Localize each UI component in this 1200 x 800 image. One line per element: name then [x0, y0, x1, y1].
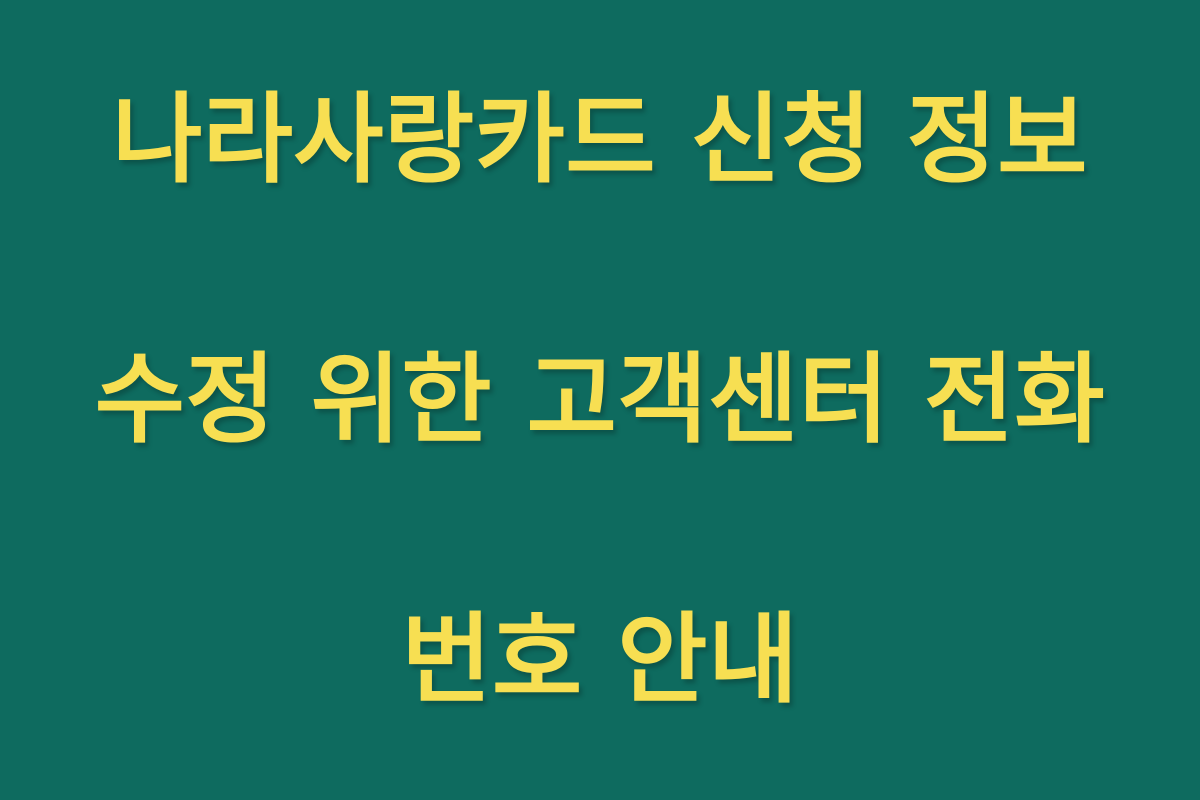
banner-card: 나라사랑카드 신청 정보 수정 위한 고객센터 전화 번호 안내: [0, 0, 1200, 800]
headline-line-3: 번호 안내: [50, 595, 1150, 725]
banner-headline: 나라사랑카드 신청 정보 수정 위한 고객센터 전화 번호 안내: [50, 0, 1150, 800]
headline-line-1: 나라사랑카드 신청 정보: [50, 75, 1150, 205]
headline-line-2: 수정 위한 고객센터 전화: [50, 335, 1150, 465]
